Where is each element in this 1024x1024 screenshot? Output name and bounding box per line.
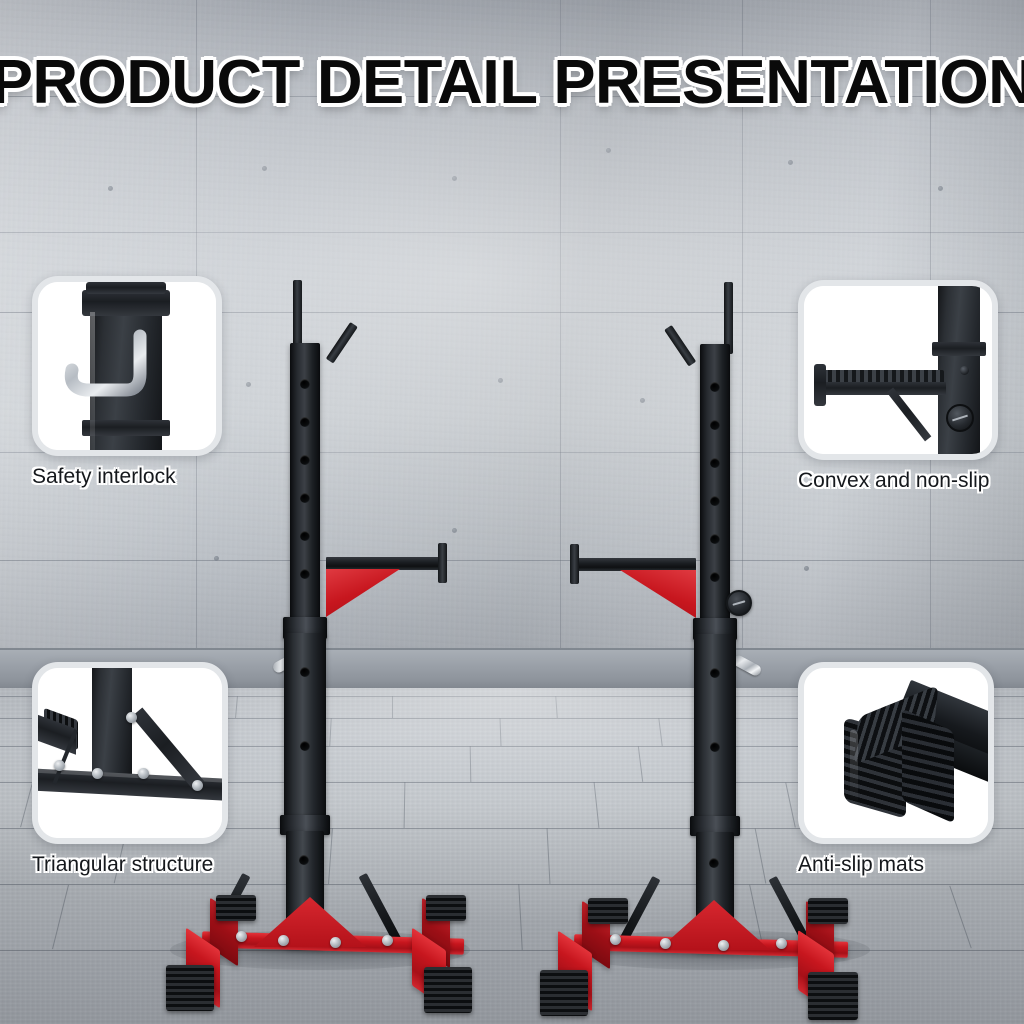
base-bolt [236, 931, 247, 942]
anti-slip-foot [588, 898, 628, 924]
callout-image-frame [32, 662, 228, 844]
safety-pin-icon [38, 282, 216, 450]
base-triangular-plate-right [658, 900, 770, 950]
triangular-structure-art [38, 668, 222, 838]
base-bolt [278, 935, 289, 946]
callout-image-frame [798, 662, 994, 844]
adjust-hole [300, 531, 310, 541]
base-bolt [610, 934, 621, 945]
callout-triangular-structure[interactable]: Triangular structure [32, 662, 228, 877]
upright-bolt-detail [960, 366, 969, 375]
adjust-hole [710, 534, 720, 544]
adjust-hole [710, 742, 720, 752]
adjust-hole [710, 668, 720, 678]
anti-slip-foot [424, 967, 472, 1013]
anti-slip-foot [808, 898, 848, 924]
adjust-hole [710, 458, 720, 468]
callout-label: Triangular structure [32, 853, 228, 877]
adjust-hole [300, 569, 310, 579]
j-hook-back-tab-left [293, 280, 302, 352]
barbell-support-arm-right [576, 558, 696, 571]
base-bolt [718, 940, 729, 951]
upright-collar-detail [932, 342, 986, 356]
adjust-hole [710, 382, 720, 392]
adjust-hole [300, 493, 310, 503]
base-bolt [660, 938, 671, 949]
callout-label: Convex and non-slip [798, 469, 998, 493]
anti-slip-foot [166, 965, 214, 1011]
anti-slip-mats-art [804, 668, 988, 838]
base-bolt [382, 935, 393, 946]
brace-bolt [54, 760, 65, 771]
adjust-hole [300, 667, 310, 677]
arm-end-plate-detail [814, 364, 826, 406]
j-hook-prong-right [664, 325, 696, 367]
arm-end-cap-left [438, 543, 447, 583]
lock-dial-right [726, 590, 752, 616]
safety-interlock-art [38, 282, 216, 450]
callout-safety-interlock[interactable]: Safety interlock [32, 276, 222, 489]
brace-bolt [126, 712, 137, 723]
adjust-hole [300, 455, 310, 465]
callout-image-frame [32, 276, 222, 456]
base-triangular-plate-left [254, 897, 366, 947]
product-detail-poster: PRODUCT DETAIL PRESENTATION [0, 0, 1024, 1024]
anti-slip-foot [540, 970, 588, 1016]
rubber-cap-highlight [850, 729, 858, 805]
brace-bolt [138, 768, 149, 779]
adjust-hole [300, 741, 310, 751]
callout-anti-slip-mats[interactable]: Anti-slip mats [798, 662, 994, 877]
adjust-hole [299, 855, 309, 865]
base-bolt [330, 937, 341, 948]
arm-end-cap-right [570, 544, 579, 584]
anti-slip-foot [808, 972, 858, 1020]
arm-underside-detail [824, 382, 946, 395]
adjust-hole [710, 572, 720, 582]
page-title: PRODUCT DETAIL PRESENTATION [0, 52, 1024, 114]
callout-label: Safety interlock [32, 465, 222, 489]
brace-bolt [92, 768, 103, 779]
anti-slip-foot [426, 895, 466, 921]
adjust-hole [300, 379, 310, 389]
brace-bolt [192, 780, 203, 791]
mid-post-left [284, 633, 326, 821]
triangular-gusset-right [620, 570, 696, 618]
callout-convex-non-slip[interactable]: Convex and non-slip [798, 280, 998, 493]
adjust-hole [709, 858, 719, 868]
barbell-support-arm-left [326, 557, 444, 570]
arm-diagonal-brace-detail [887, 388, 931, 442]
triangular-gusset-left [326, 569, 400, 617]
adjust-hole [710, 420, 720, 430]
base-bolt [776, 938, 787, 949]
adjust-hole [300, 417, 310, 427]
callout-image-frame [798, 280, 998, 460]
mid-post-right [694, 634, 736, 822]
adjust-hole [710, 496, 720, 506]
anti-slip-foot [216, 895, 256, 921]
j-hook-prong-left [326, 322, 358, 364]
callout-label: Anti-slip mats [798, 853, 994, 877]
convex-non-slip-art [804, 286, 992, 454]
